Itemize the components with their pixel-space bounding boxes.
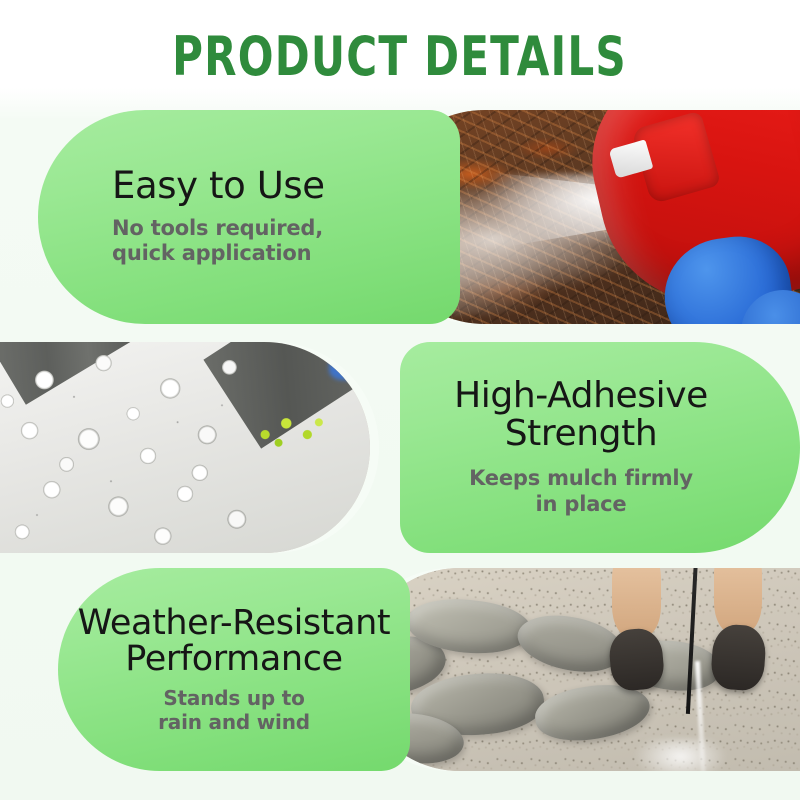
feature-subline: Stands up to rain and wind — [158, 686, 310, 735]
feature-subline-line-2: quick application — [112, 241, 323, 267]
feature-row-high-adhesive-strength: High-Adhesive Strength Keeps mulch firml… — [0, 342, 800, 553]
infographic-page: PRODUCT DETAILS Easy to Use No tools req… — [0, 0, 800, 800]
green-sprout — [244, 405, 340, 456]
feature-subline-line-1: No tools required, — [112, 216, 323, 242]
page-title: PRODUCT DETAILS — [173, 25, 628, 88]
feature-headline-line-2: Strength — [454, 415, 708, 452]
feature-subline: No tools required, quick application — [112, 216, 323, 267]
right-sandal — [709, 623, 766, 691]
feature-headline-line-2: Performance — [78, 641, 391, 677]
left-leg — [612, 568, 661, 637]
feature-subline-line-2: in place — [469, 492, 693, 518]
feature-photo-high-adhesive-strength — [0, 342, 370, 553]
feature-headline-line-1: Weather-Resistant — [78, 605, 391, 641]
page-title-bar: PRODUCT DETAILS — [0, 20, 800, 92]
feature-panel-weather-resistant-performance: Weather-Resistant Performance Stands up … — [58, 568, 410, 771]
water-splash — [632, 739, 729, 771]
feature-photo-weather-resistant-performance — [358, 568, 800, 771]
feature-subline-line-1: Stands up to — [158, 686, 310, 710]
feature-headline-line-1: High-Adhesive — [454, 377, 708, 414]
feature-panel-easy-to-use: Easy to Use No tools required, quick app… — [38, 110, 460, 324]
feature-headline: High-Adhesive Strength — [454, 377, 708, 452]
feature-subline-line-2: rain and wind — [158, 710, 310, 734]
blue-accent — [329, 355, 362, 380]
feature-subline: Keeps mulch firmly in place — [469, 466, 693, 517]
feature-headline: Easy to Use — [112, 167, 325, 205]
feature-headline: Weather-Resistant Performance — [78, 605, 391, 678]
feature-row-easy-to-use: Easy to Use No tools required, quick app… — [0, 110, 800, 324]
right-leg — [714, 568, 763, 633]
feature-panel-high-adhesive-strength: High-Adhesive Strength Keeps mulch firml… — [400, 342, 800, 553]
feature-row-weather-resistant-performance: Weather-Resistant Performance Stands up … — [0, 568, 800, 771]
feature-subline-line-1: Keeps mulch firmly — [469, 466, 693, 492]
